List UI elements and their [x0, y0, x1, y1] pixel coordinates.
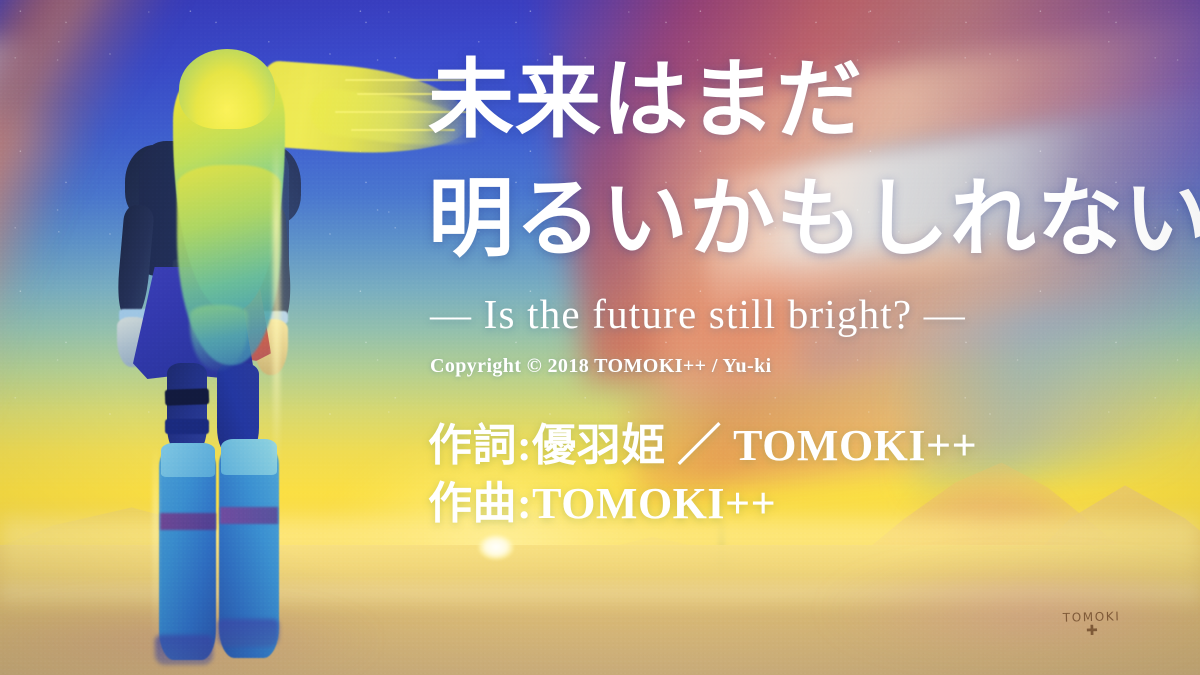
boot-sole-left [155, 635, 213, 665]
credit-composition: 作曲:TOMOKI++ [428, 467, 776, 531]
boot-cuff-left [161, 443, 215, 477]
boot-sole-right [217, 619, 279, 647]
title-text-block: 未来はまだ 明るいかもしれない — Is the future still br… [424, 0, 1184, 675]
title-line-2: 明るいかもしれない [428, 176, 1200, 262]
boot-stripe-right [220, 507, 278, 524]
boot-cuff-right [221, 439, 277, 475]
thigh-strap [165, 388, 210, 406]
copyright-notice: Copyright © 2018 TOMOKI++ / Yu-ki [430, 355, 772, 378]
rim-light-right [273, 141, 280, 471]
hair-crown [179, 49, 275, 129]
credit-lyrics: 作詞:優羽姫 ／ TOMOKI++ [428, 409, 977, 473]
girl-figure [95, 45, 385, 675]
subtitle-english: — Is the future still bright? — [430, 290, 966, 338]
artist-signature-mark: ✚ [1063, 623, 1121, 639]
leg-left-upper [167, 363, 207, 453]
artist-signature: TOMOKI ✚ [1063, 610, 1121, 639]
boot-stripe-left [160, 513, 216, 530]
boot-left [159, 445, 216, 660]
thigh-strap-lower [165, 419, 209, 434]
artwork-canvas: 未来はまだ 明るいかもしれない — Is the future still br… [0, 0, 1200, 675]
rim-light-left [153, 445, 158, 645]
title-line-1: 未来はまだ [428, 57, 863, 143]
